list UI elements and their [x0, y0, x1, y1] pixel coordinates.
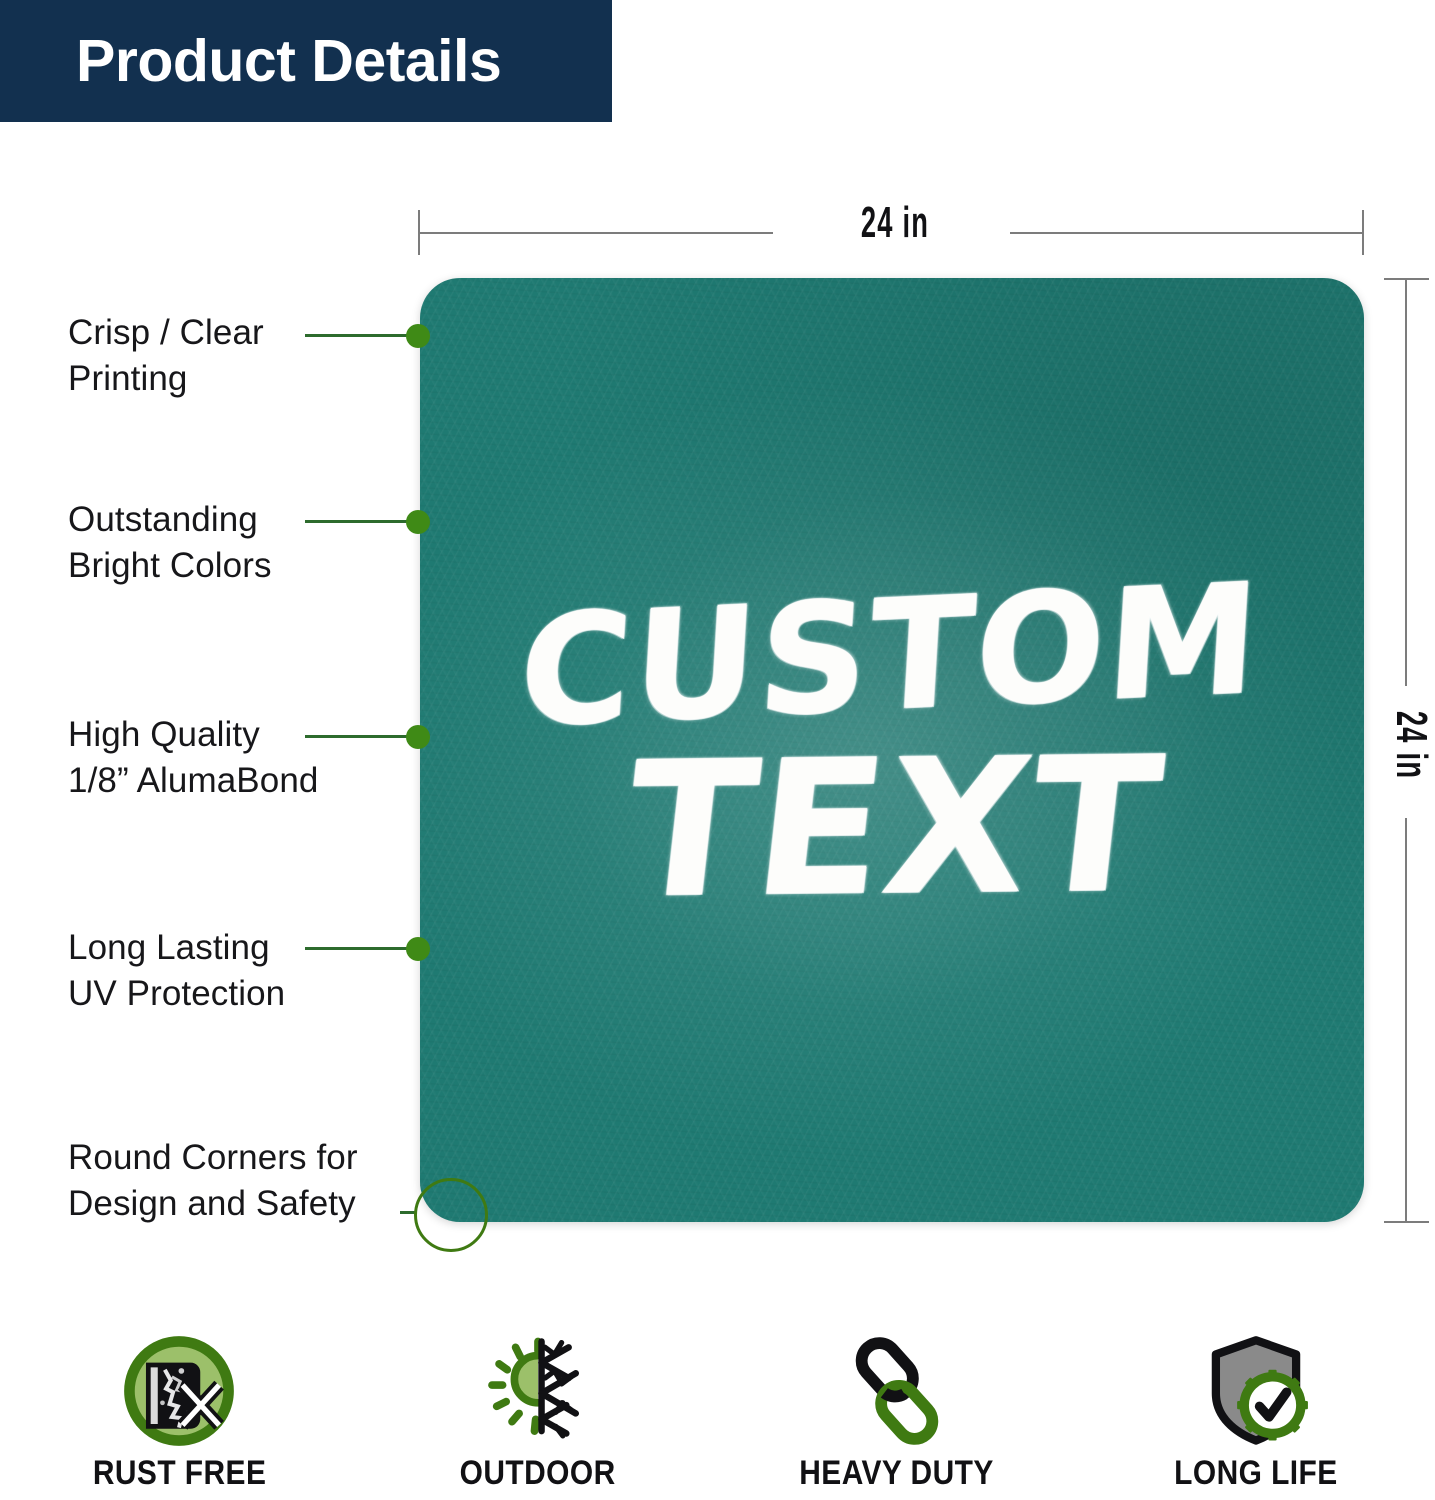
dimension-label-height: 24 in: [1386, 711, 1435, 779]
leader-dot-crisp-clear-printing: [406, 324, 430, 348]
leader-dot-outstanding-bright-colors: [406, 510, 430, 534]
sun-snowflake-icon: [479, 1332, 597, 1450]
round-corner-highlight-circle: [414, 1178, 488, 1252]
leader-dot-high-quality-alumabond: [406, 725, 430, 749]
dimension-line-width-right: [1010, 232, 1364, 234]
benefit-item-long-life: LONG LIFE: [1076, 1332, 1435, 1500]
callout-label-high-quality-alumabond: High Quality 1/8” AlumaBond: [68, 712, 368, 803]
chain-link-icon: [838, 1332, 956, 1450]
dimension-cap-height-top: [1384, 278, 1429, 280]
chalk-text-block: CUSTOM TEXT: [420, 278, 1364, 1222]
header-banner: Product Details: [0, 0, 612, 122]
callout-label-round-corners: Round Corners for Design and Safety: [68, 1135, 408, 1226]
dimension-label-width: 24 in: [833, 198, 957, 248]
rust-free-icon: [120, 1332, 238, 1450]
dimension-cap-width-left: [418, 210, 420, 255]
benefit-item-heavy-duty: HEAVY DUTY: [718, 1332, 1077, 1500]
callout-label-outstanding-bright-colors: Outstanding Bright Colors: [68, 497, 328, 588]
dimension-line-height-top: [1405, 278, 1407, 686]
leader-line-crisp-clear-printing: [305, 334, 415, 337]
callout-label-crisp-clear-printing: Crisp / Clear Printing: [68, 310, 318, 401]
dimension-line-width-left: [418, 232, 773, 234]
callout-label-long-lasting-uv-protection: Long Lasting UV Protection: [68, 925, 348, 1016]
leader-line-long-lasting-uv-protection: [305, 947, 415, 950]
shield-clock-icon: [1197, 1332, 1315, 1450]
benefit-item-outdoor: OUTDOOR: [359, 1332, 718, 1500]
leader-dot-long-lasting-uv-protection: [406, 937, 430, 961]
leader-line-outstanding-bright-colors: [305, 520, 415, 523]
benefit-label-heavy-duty: HEAVY DUTY: [800, 1454, 994, 1493]
chalk-text-line-2: TEXT: [618, 736, 1170, 920]
dimension-label-height-wrap: 24 in: [1356, 690, 1435, 810]
benefit-label-outdoor: OUTDOOR: [460, 1454, 616, 1493]
benefits-row: RUST FREE: [0, 1332, 1435, 1500]
dimension-line-height-bottom: [1405, 818, 1407, 1222]
benefit-label-long-life: LONG LIFE: [1174, 1454, 1338, 1493]
benefit-label-rust-free: RUST FREE: [93, 1454, 267, 1493]
product-chalkboard-sign: CUSTOM TEXT: [420, 278, 1364, 1222]
page-title: Product Details: [76, 32, 501, 91]
dimension-cap-width-right: [1362, 210, 1364, 255]
dimension-cap-height-bottom: [1384, 1221, 1429, 1223]
leader-line-high-quality-alumabond: [305, 735, 415, 738]
benefit-item-rust-free: RUST FREE: [0, 1332, 359, 1500]
